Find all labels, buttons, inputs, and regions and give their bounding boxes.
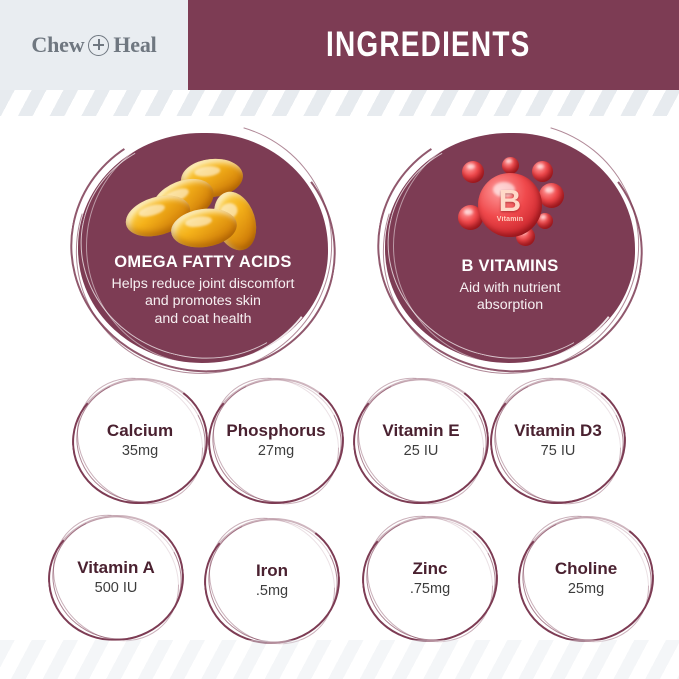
logo-word-heal: Heal: [113, 34, 156, 56]
fish-oil-capsules-icon: [123, 157, 283, 249]
feature-omega-fatty-acids: OMEGA FATTY ACIDS Helps reduce joint dis…: [78, 133, 328, 363]
header: Chew Heal INGREDIENTS: [0, 0, 679, 90]
feature-description: Helps reduce joint discomfort and promot…: [96, 276, 311, 328]
nutrient-amount: 27mg: [258, 444, 294, 460]
nutrient-amount: .5mg: [256, 584, 288, 600]
feature-description: Aid with nutrient absorption: [444, 280, 577, 315]
nutrient-name: Vitamin D3: [514, 422, 602, 440]
feature-title: B VITAMINS: [461, 257, 558, 275]
molecule-sublabel: Vitamin: [497, 216, 524, 223]
molecule-letter: B: [499, 187, 521, 215]
plus-in-circle-icon: [88, 35, 109, 56]
header-title-band: INGREDIENTS: [188, 0, 679, 90]
nutrient-amount: .75mg: [410, 582, 450, 598]
nutrient-name: Calcium: [107, 422, 173, 440]
nutrient-circle-choline: Choline 25mg: [518, 516, 654, 642]
nutrient-circle-vitamin-e: Vitamin E 25 IU: [353, 378, 489, 504]
nutrient-circle-phosphorus: Phosphorus 27mg: [208, 378, 344, 504]
nutrient-amount: 25mg: [568, 582, 604, 598]
nutrient-circle-vitamin-a: Vitamin A 500 IU: [48, 515, 184, 641]
nutrient-circle-zinc: Zinc .75mg: [362, 516, 498, 642]
b-vitamin-molecule-icon: B Vitamin: [440, 157, 580, 253]
nutrient-amount: 75 IU: [541, 444, 576, 460]
nutrient-name: Vitamin A: [77, 559, 154, 577]
nutrient-circle-calcium: Calcium 35mg: [72, 378, 208, 504]
brand-logo-panel: Chew Heal: [0, 0, 188, 90]
nutrient-name: Iron: [256, 562, 288, 580]
nutrient-name: Phosphorus: [226, 422, 325, 440]
feature-b-vitamins: B Vitamin B VITAMINS Aid with nutrient a…: [385, 133, 635, 363]
diagonal-stripe-band-top: [0, 90, 679, 116]
nutrient-name: Vitamin E: [382, 422, 459, 440]
nutrient-circle-vitamin-d3: Vitamin D3 75 IU: [490, 378, 626, 504]
brand-logo: Chew Heal: [31, 34, 156, 56]
logo-word-chew: Chew: [31, 34, 84, 56]
nutrient-name: Choline: [555, 560, 617, 578]
ingredients-infographic: Chew Heal INGREDIENTS OMEGA F: [0, 0, 679, 679]
nutrient-circle-iron: Iron .5mg: [204, 518, 340, 644]
nutrient-name: Zinc: [413, 560, 448, 578]
feature-title: OMEGA FATTY ACIDS: [114, 253, 291, 271]
nutrient-amount: 35mg: [122, 444, 158, 460]
diagonal-stripe-band-bottom: [0, 640, 679, 679]
page-title: INGREDIENTS: [326, 25, 542, 65]
nutrient-amount: 500 IU: [95, 581, 138, 597]
nutrient-amount: 25 IU: [404, 444, 439, 460]
